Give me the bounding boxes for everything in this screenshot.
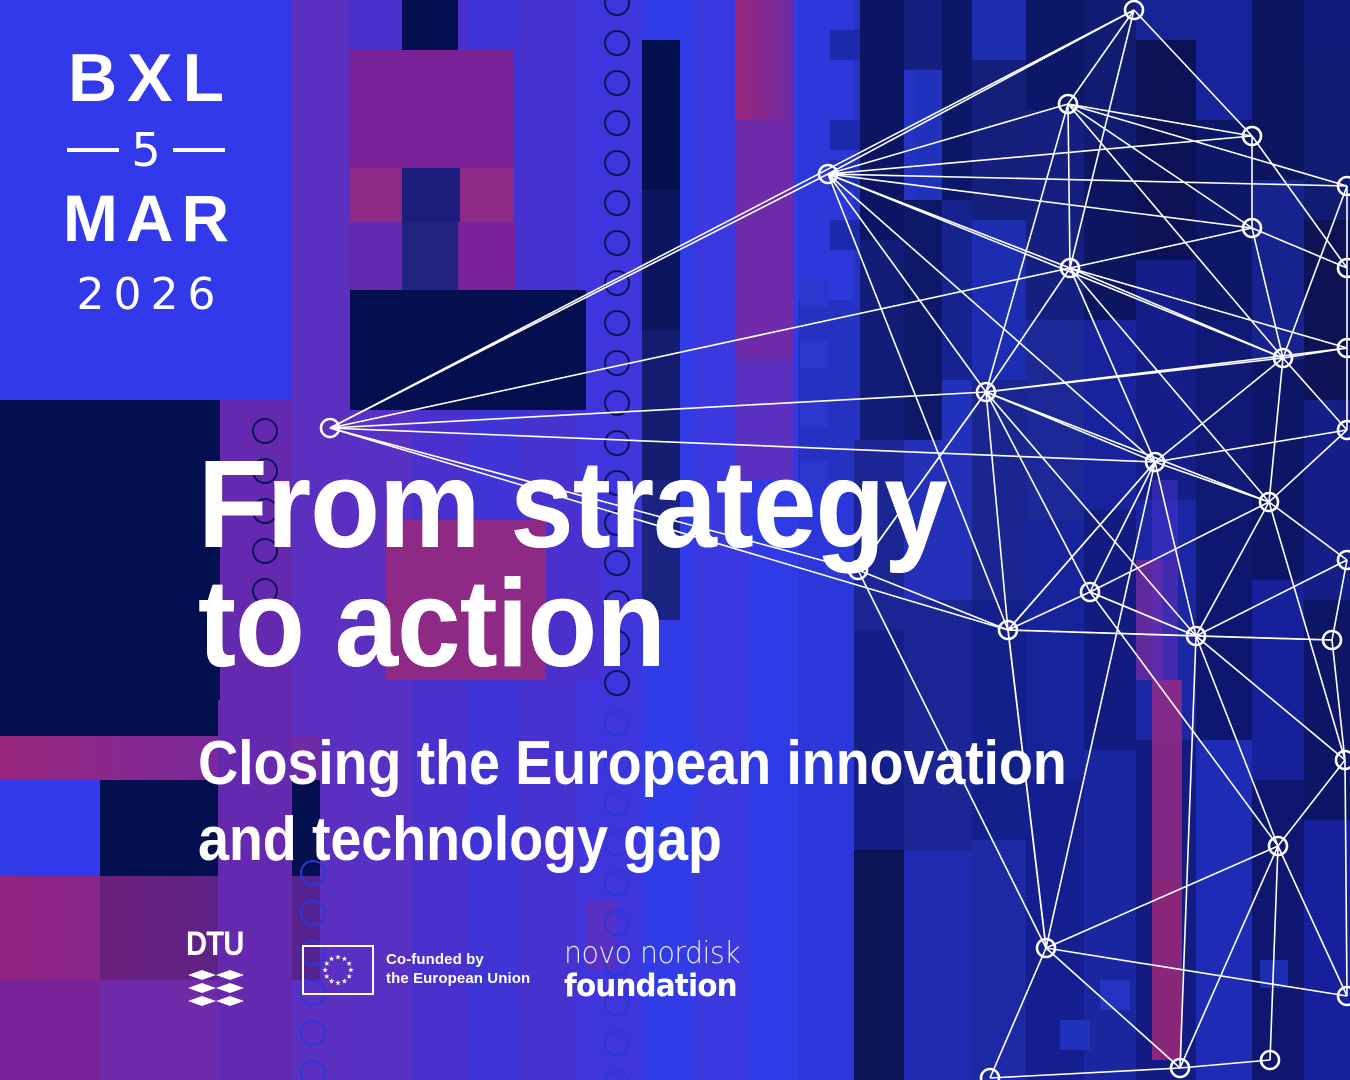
- network-edge: [1070, 268, 1347, 348]
- network-edge: [990, 948, 1046, 1078]
- network-edge: [1068, 104, 1347, 186]
- nnf-wordmark-bottom: foundation: [564, 971, 740, 1002]
- badge-rule-right: [173, 148, 225, 152]
- badge-rule-left: [67, 148, 119, 152]
- network-edge: [1070, 268, 1283, 358]
- network-edge: [1332, 640, 1345, 760]
- network-edge: [990, 1068, 1180, 1078]
- nnf-wordmark-top: novo nordisk: [564, 939, 740, 969]
- logo-row: DTU Co-funded by the European Union novo…: [186, 925, 750, 1015]
- eu-stars-icon: [304, 947, 372, 993]
- novo-nordisk-foundation-logo: novo nordisk foundation: [564, 939, 749, 1002]
- eu-star: [329, 956, 334, 961]
- eu-star: [322, 967, 327, 972]
- network-edge: [1332, 560, 1347, 640]
- network-edge: [828, 174, 1283, 358]
- network-edge: [1090, 502, 1269, 592]
- eu-star: [342, 956, 347, 961]
- network-edge: [1180, 1060, 1270, 1068]
- network-edge: [986, 392, 1196, 636]
- network-edge: [1070, 10, 1134, 268]
- eu-star: [342, 978, 347, 983]
- network-edge: [1008, 462, 1155, 630]
- network-edge: [1269, 502, 1347, 560]
- network-edge: [1090, 592, 1278, 846]
- eu-text-line-1: Co-funded by: [386, 951, 530, 970]
- badge-day: 5: [131, 127, 160, 173]
- network-edge: [828, 10, 1134, 174]
- network-node: [1338, 259, 1350, 277]
- network-edge: [1345, 760, 1347, 996]
- network-edge: [986, 392, 1269, 502]
- dtu-wave-icon: [186, 968, 250, 1008]
- network-edge: [330, 10, 1134, 428]
- eu-star: [335, 980, 340, 985]
- network-edge: [330, 392, 986, 428]
- badge-month: MAR: [55, 185, 237, 251]
- eu-star: [324, 961, 329, 966]
- network-edge: [1196, 636, 1278, 846]
- date-badge: BXL 5 MAR 2026: [0, 0, 292, 400]
- network-edge: [330, 268, 1070, 428]
- eu-cofunded-logo: Co-funded by the European Union: [302, 945, 530, 995]
- network-edge: [1196, 636, 1332, 640]
- page-subtitle: Closing the European innovation and tech…: [198, 726, 1067, 877]
- eu-star: [348, 967, 353, 972]
- network-edge: [1196, 502, 1269, 636]
- network-edge: [986, 268, 1070, 392]
- network-edge: [1196, 560, 1347, 636]
- network-edge: [986, 358, 1283, 392]
- eu-logo-text: Co-funded by the European Union: [386, 951, 530, 989]
- page-title: From strategy to action: [198, 446, 947, 684]
- badge-day-row: 5: [67, 127, 224, 173]
- network-edge: [1068, 104, 1070, 268]
- eu-star: [329, 978, 334, 983]
- subtitle-line-1: Closing the European innovation: [198, 726, 1067, 802]
- network-edge: [1278, 760, 1345, 846]
- dtu-logo: DTU: [186, 927, 258, 1013]
- network-edge: [1196, 636, 1345, 760]
- network-node: [1338, 551, 1350, 569]
- subtitle-line-2: and technology gap: [198, 802, 1067, 878]
- eu-star: [324, 974, 329, 979]
- network-edge: [1180, 846, 1278, 1068]
- network-edge: [1134, 10, 1252, 136]
- eu-star: [346, 961, 351, 966]
- network-edge: [1155, 358, 1283, 462]
- event-poster: BXL 5 MAR 2026 From strategy to action C…: [0, 0, 1350, 1080]
- eu-text-line-2: the European Union: [386, 970, 530, 989]
- headline-line-1: From strategy: [198, 446, 947, 565]
- network-edge: [1270, 846, 1278, 1060]
- network-edge: [1278, 846, 1347, 996]
- eu-flag-icon: [302, 945, 374, 995]
- network-edge: [1046, 846, 1278, 948]
- network-edge: [1283, 358, 1347, 430]
- network-edge: [1008, 592, 1090, 630]
- headline-line-2: to action: [198, 565, 947, 684]
- network-edge: [1269, 358, 1283, 502]
- eu-star: [346, 974, 351, 979]
- network-edge: [828, 174, 1155, 462]
- network-edge: [1068, 10, 1134, 104]
- network-edge: [1070, 228, 1252, 268]
- network-edge: [1090, 462, 1155, 592]
- network-edge: [1180, 636, 1196, 1068]
- badge-year: 2026: [68, 269, 225, 320]
- badge-city: BXL: [58, 46, 234, 111]
- dtu-wordmark: DTU: [186, 927, 248, 961]
- eu-star: [335, 954, 340, 959]
